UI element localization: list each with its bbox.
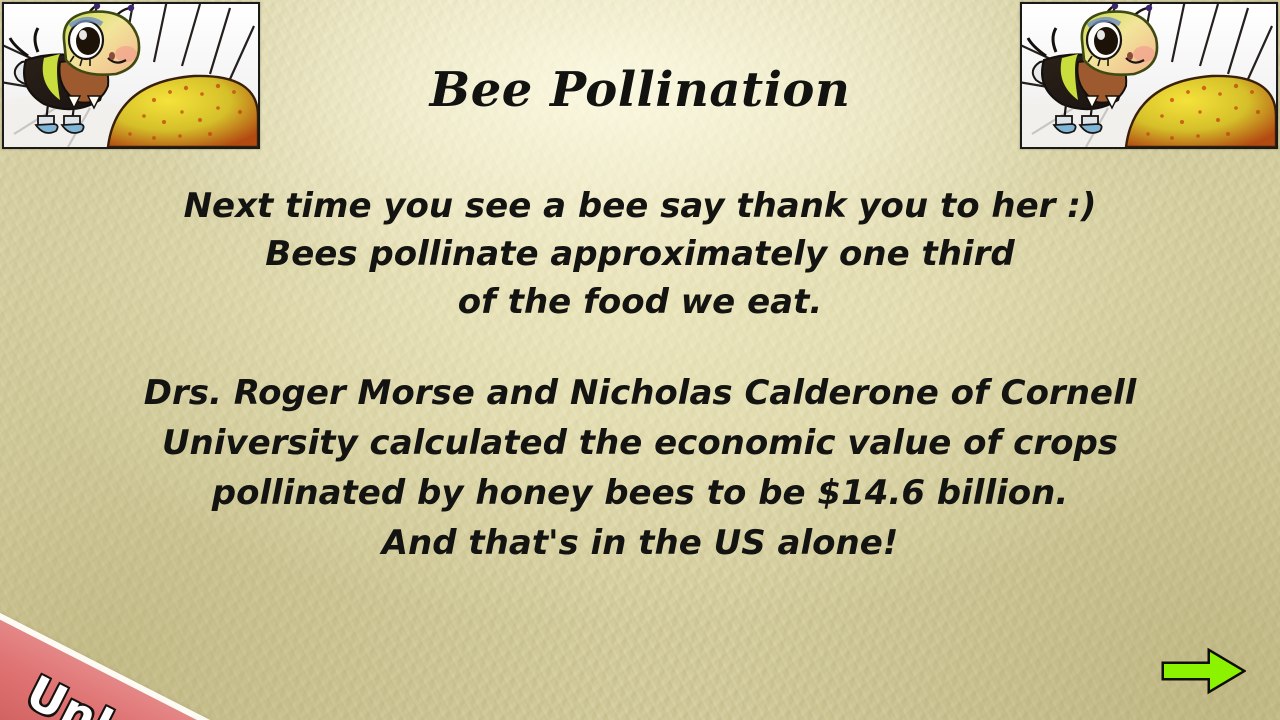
paragraph-two-line: pollinated by honey bees to be $14.6 bil… (60, 468, 1220, 518)
paragraph-one: Next time you see a bee say thank you to… (60, 182, 1220, 326)
right-arrow-icon (1160, 647, 1246, 695)
next-button[interactable] (1160, 647, 1246, 695)
paragraph-two-line: University calculated the economic value… (60, 418, 1220, 468)
unlock-facts-ribbon[interactable]: Unlock facts! (0, 544, 560, 720)
paragraph-one-line: Bees pollinate approximately one third (60, 230, 1220, 278)
slide-canvas: Bee Pollination Next time you see a bee … (0, 0, 1280, 720)
body-copy: Next time you see a bee say thank you to… (60, 182, 1220, 568)
page-title: Bee Pollination (0, 62, 1280, 118)
paragraph-two: Drs. Roger Morse and Nicholas Calderone … (60, 368, 1220, 568)
paragraph-two-line: Drs. Roger Morse and Nicholas Calderone … (60, 368, 1220, 418)
paragraph-two-line: And that's in the US alone! (60, 518, 1220, 568)
paragraph-one-line: Next time you see a bee say thank you to… (60, 182, 1220, 230)
unlock-facts-label: Unlock facts! (18, 665, 357, 720)
paragraph-one-line: of the food we eat. (60, 278, 1220, 326)
